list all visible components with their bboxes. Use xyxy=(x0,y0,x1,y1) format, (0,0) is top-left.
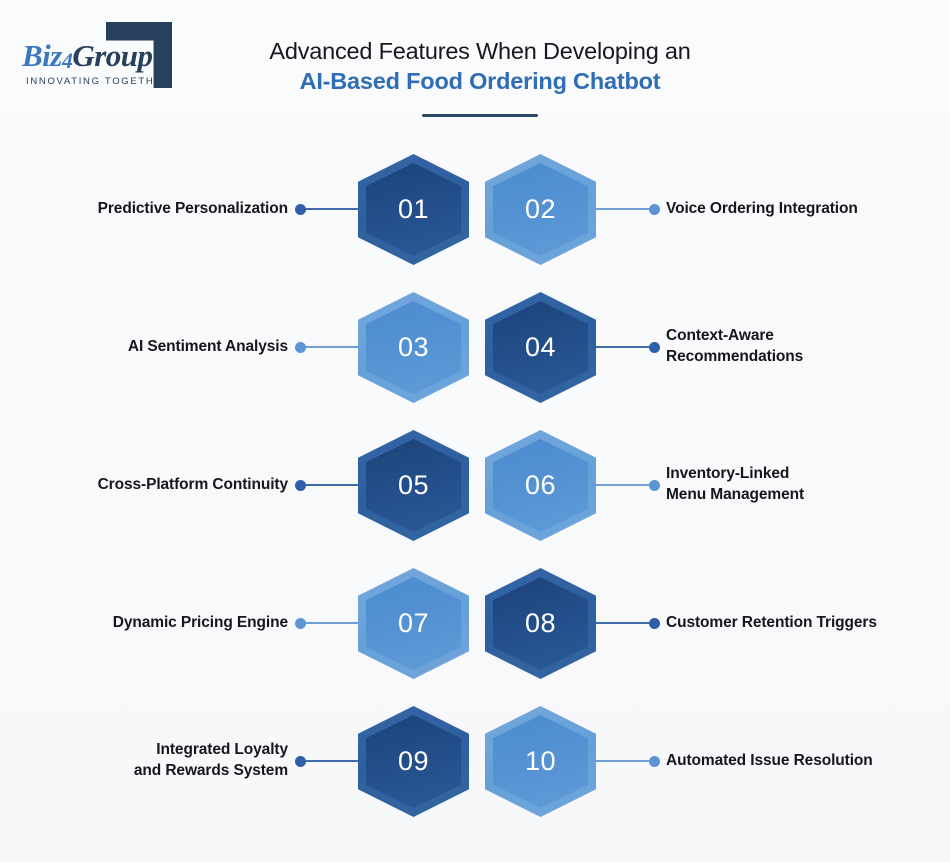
feature-row: Integrated Loyaltyand Rewards System09Au… xyxy=(0,692,950,830)
connector xyxy=(596,622,660,624)
feature-label-line: Dynamic Pricing Engine xyxy=(113,613,288,634)
connector xyxy=(596,346,660,348)
biz4group-logo: Biz4Group INNOVATING TOGETHER xyxy=(18,18,178,94)
feature-label: Context-AwareRecommendations xyxy=(666,278,928,416)
hexagon-step-10[interactable]: 10 xyxy=(485,706,596,817)
feature-label-line: Recommendations xyxy=(666,347,803,368)
hexagon-number: 06 xyxy=(485,430,596,541)
connector-dot-icon xyxy=(295,480,306,491)
title-divider xyxy=(422,114,538,117)
hexagon-number: 10 xyxy=(485,706,596,817)
feature-label-line: Predictive Personalization xyxy=(98,199,288,220)
title-line-primary: Advanced Features When Developing an xyxy=(230,36,730,66)
feature-row: AI Sentiment Analysis03Context-AwareReco… xyxy=(0,278,950,416)
connector-dot-icon xyxy=(649,618,660,629)
hexagon-number: 02 xyxy=(485,154,596,265)
hexagon-number: 08 xyxy=(485,568,596,679)
connector-dot-icon xyxy=(649,480,660,491)
hexagon-step-03[interactable]: 03 xyxy=(358,292,469,403)
hexagon-number: 05 xyxy=(358,430,469,541)
hexagon-step-09[interactable]: 09 xyxy=(358,706,469,817)
hexagon-step-01[interactable]: 01 xyxy=(358,154,469,265)
page-title: Advanced Features When Developing an AI-… xyxy=(230,36,730,117)
hexagon-number: 03 xyxy=(358,292,469,403)
feature-row: Cross-Platform Continuity05Inventory-Lin… xyxy=(0,416,950,554)
connector-line xyxy=(306,760,359,762)
feature-label: Customer Retention Triggers xyxy=(666,554,928,692)
feature-label: Dynamic Pricing Engine xyxy=(30,554,288,692)
feature-row: Predictive Personalization01Voice Orderi… xyxy=(0,140,950,278)
feature-label-line: Inventory-Linked xyxy=(666,464,804,485)
hexagon-step-04[interactable]: 04 xyxy=(485,292,596,403)
feature-label-line: AI Sentiment Analysis xyxy=(128,337,288,358)
connector xyxy=(596,208,660,210)
connector-line xyxy=(306,346,359,348)
hexagon-step-08[interactable]: 08 xyxy=(485,568,596,679)
infographic-canvas: Biz4Group INNOVATING TOGETHER Advanced F… xyxy=(0,0,950,862)
hexagon-number: 07 xyxy=(358,568,469,679)
connector xyxy=(295,346,359,348)
feature-label-line: Context-Aware xyxy=(666,326,803,347)
feature-row: Dynamic Pricing Engine07Customer Retenti… xyxy=(0,554,950,692)
hexagon-number: 09 xyxy=(358,706,469,817)
connector xyxy=(295,208,359,210)
connector-line xyxy=(596,484,649,486)
connector-dot-icon xyxy=(649,204,660,215)
hexagon-number: 04 xyxy=(485,292,596,403)
feature-label-line: Automated Issue Resolution xyxy=(666,751,873,772)
feature-label-line: Cross-Platform Continuity xyxy=(98,475,288,496)
connector-dot-icon xyxy=(295,342,306,353)
title-line-accent: AI-Based Food Ordering Chatbot xyxy=(230,66,730,98)
hexagon-step-02[interactable]: 02 xyxy=(485,154,596,265)
connector-dot-icon xyxy=(649,342,660,353)
feature-row-list: Predictive Personalization01Voice Orderi… xyxy=(0,140,950,830)
connector-line xyxy=(306,622,359,624)
feature-label: Predictive Personalization xyxy=(30,140,288,278)
logo-wordmark-four: 4 xyxy=(62,48,73,73)
connector xyxy=(596,484,660,486)
hexagon-step-06[interactable]: 06 xyxy=(485,430,596,541)
feature-label-line: Integrated Loyalty xyxy=(134,740,288,761)
feature-label: Voice Ordering Integration xyxy=(666,140,928,278)
hexagon-step-05[interactable]: 05 xyxy=(358,430,469,541)
logo-wordmark-biz: Biz xyxy=(22,38,62,73)
connector-line xyxy=(306,484,359,486)
feature-label-line: and Rewards System xyxy=(134,761,288,782)
connector xyxy=(295,760,359,762)
connector xyxy=(596,760,660,762)
connector-line xyxy=(596,208,649,210)
feature-label: Cross-Platform Continuity xyxy=(30,416,288,554)
connector-dot-icon xyxy=(295,756,306,767)
connector xyxy=(295,484,359,486)
connector-dot-icon xyxy=(295,204,306,215)
connector-line xyxy=(596,760,649,762)
connector-dot-icon xyxy=(295,618,306,629)
connector-line xyxy=(596,622,649,624)
logo-wordmark-group: Group xyxy=(72,38,152,73)
feature-label: AI Sentiment Analysis xyxy=(30,278,288,416)
feature-label-line: Voice Ordering Integration xyxy=(666,199,858,220)
connector-line xyxy=(596,346,649,348)
hexagon-step-07[interactable]: 07 xyxy=(358,568,469,679)
logo-wordmark: Biz4Group xyxy=(22,38,153,74)
hexagon-number: 01 xyxy=(358,154,469,265)
feature-label-line: Customer Retention Triggers xyxy=(666,613,877,634)
connector-line xyxy=(306,208,359,210)
feature-label: Inventory-LinkedMenu Management xyxy=(666,416,928,554)
feature-label: Integrated Loyaltyand Rewards System xyxy=(30,692,288,830)
connector-dot-icon xyxy=(649,756,660,767)
connector xyxy=(295,622,359,624)
feature-label-line: Menu Management xyxy=(666,485,804,506)
logo-tagline: INNOVATING TOGETHER xyxy=(26,76,171,87)
feature-label: Automated Issue Resolution xyxy=(666,692,928,830)
